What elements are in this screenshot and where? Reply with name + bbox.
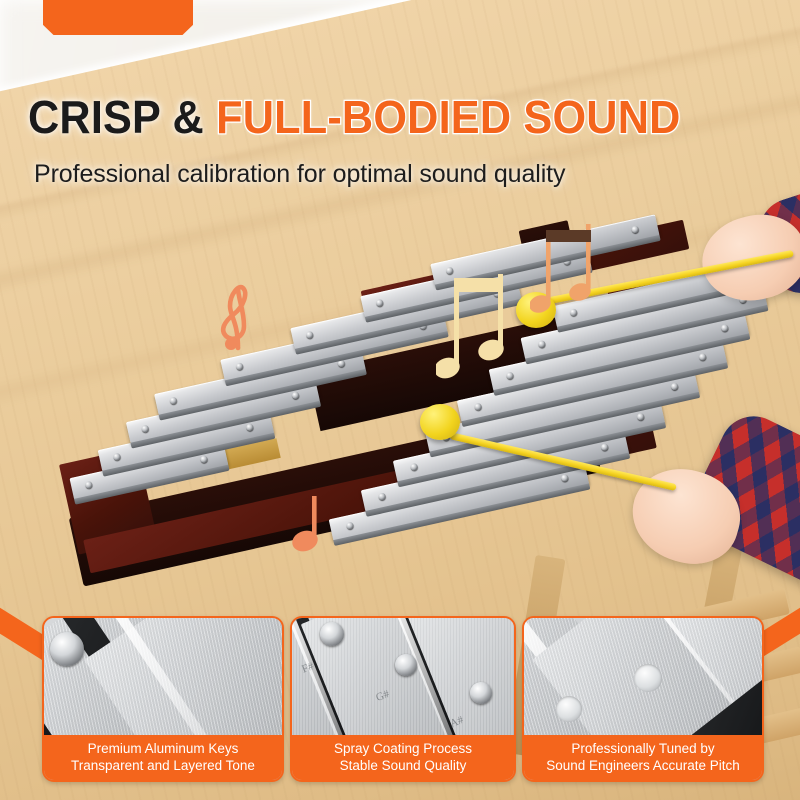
screw-icon (320, 622, 344, 646)
screw-icon (50, 632, 84, 666)
product-banner: CRISP & FULL-BODIED SOUND Professional c… (0, 0, 800, 800)
caption-line-2: Stable Sound Quality (340, 758, 467, 775)
top-accent-tab (43, 0, 193, 35)
mallet-head-lower (420, 404, 460, 440)
beamed-note-icon (530, 222, 608, 326)
screw-icon (470, 682, 492, 704)
feature-caption-spray-coating-process: Spray Coating Process Stable Sound Quali… (292, 735, 514, 780)
feature-panel-premium-aluminum-keys[interactable]: Premium Aluminum Keys Transparent and La… (42, 616, 284, 782)
caption-line-1: Professionally Tuned by (571, 741, 714, 758)
feature-panel-professionally-tuned[interactable]: Professionally Tuned by Sound Engineers … (522, 616, 764, 782)
tuning-dimple-icon (634, 664, 662, 692)
screw-icon (395, 654, 417, 676)
headline-accent-text: FULL-BODIED SOUND (216, 91, 680, 143)
tuning-dimple-icon (556, 696, 582, 722)
caption-line-2: Sound Engineers Accurate Pitch (546, 758, 740, 775)
feature-image-professionally-tuned (524, 618, 762, 735)
headline-block: CRISP & FULL-BODIED SOUND (28, 92, 773, 142)
caption-line-2: Transparent and Layered Tone (71, 758, 255, 775)
feature-image-spray-coating-process: F# G# A# (292, 618, 514, 735)
quarter-note-icon (288, 494, 332, 556)
headline-dark-text: CRISP & (28, 91, 204, 143)
feature-caption-professionally-tuned: Professionally Tuned by Sound Engineers … (524, 735, 762, 780)
caption-line-1: Spray Coating Process (334, 741, 472, 758)
caption-line-1: Premium Aluminum Keys (88, 741, 239, 758)
treble-clef-icon (214, 276, 262, 356)
subheadline-text: Professional calibration for optimal sou… (34, 160, 565, 189)
feature-image-premium-aluminum-keys (44, 618, 282, 735)
feature-caption-premium-aluminum-keys: Premium Aluminum Keys Transparent and La… (44, 735, 282, 780)
eighth-note-pair-icon (436, 272, 520, 390)
feature-panel-spray-coating-process[interactable]: F# G# A# Spray Coating Process Stable So… (290, 616, 516, 782)
